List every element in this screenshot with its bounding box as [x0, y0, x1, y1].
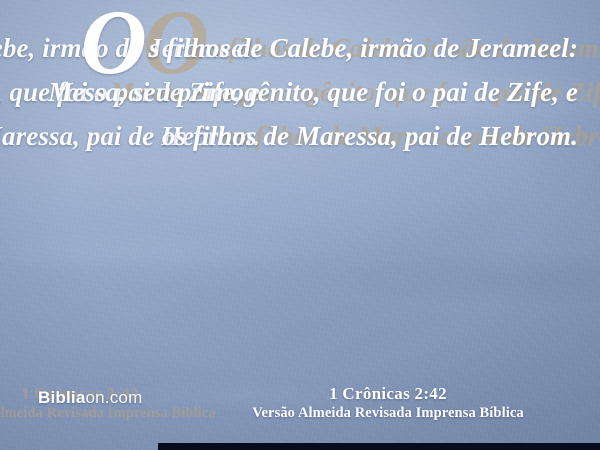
verse-text-block: Os filhos de Calebe, irmão de Jerameel: …: [0, 26, 600, 158]
logo-light-text: on.com: [86, 388, 143, 407]
reference-block: 1 Crônicas 2:42 Versão Almeida Revisada …: [190, 384, 586, 423]
bottom-bar: [158, 443, 600, 450]
logo-strong-text: Biblia: [38, 388, 86, 407]
bible-version: Versão Almeida Revisada Imprensa Bíblica: [190, 404, 586, 423]
verse-reference: 1 Crônicas 2:42: [190, 384, 586, 404]
bibliaon-logo[interactable]: Bibliaon.com: [38, 388, 142, 408]
bible-verse-card: Os filhos de Calebe, irmão de Jerameel: …: [0, 0, 600, 450]
